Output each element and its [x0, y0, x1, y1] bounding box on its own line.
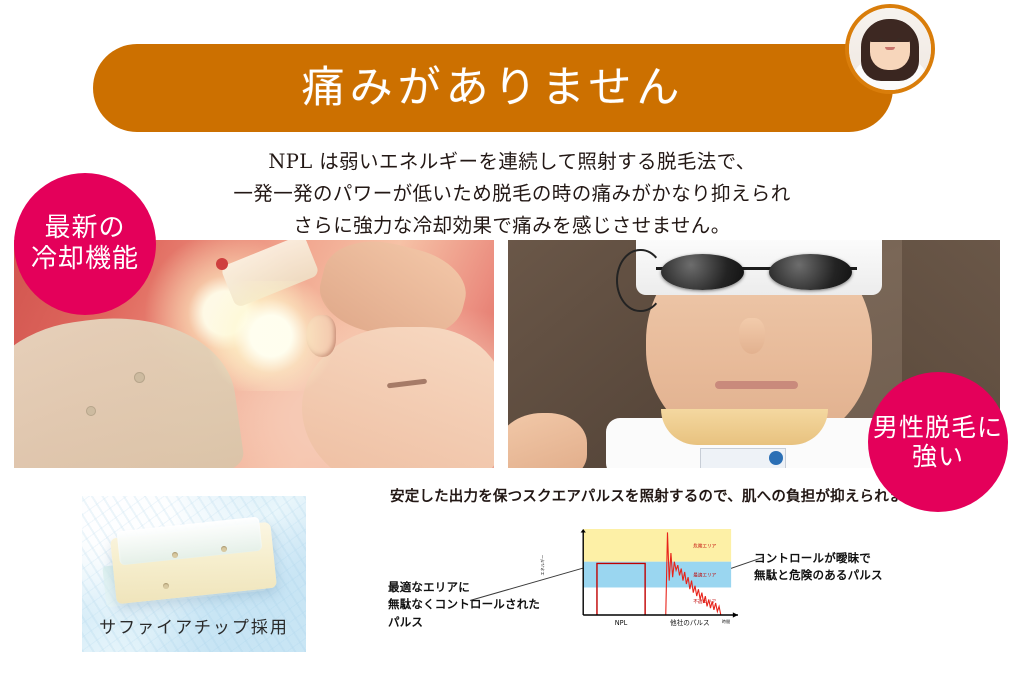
photo-right-nose	[739, 318, 765, 354]
badge-cooling-line-2: 冷却機能	[31, 244, 139, 275]
avatar-hair-front	[867, 20, 913, 42]
annotation-left-line-2: 無駄なくコントロールされた	[388, 597, 540, 614]
chart-caption: 安定した出力を保つスクエアパルスを照射するので、肌への負担が抑えられます。	[390, 485, 932, 506]
lead-line-2: 一発一発のパワーが低いため脱毛の時の痛みがかなり抑えられ	[0, 178, 1024, 210]
badge-male-line-2: 強い	[912, 442, 964, 472]
chart-y-axis-label: エネルギー	[540, 555, 546, 576]
photo-right-staff-hand	[508, 413, 587, 468]
badge-cooling: 最新の 冷却機能	[14, 173, 156, 315]
header-banner: 痛みがありません	[93, 44, 893, 132]
badge-male-hair-removal: 男性脱毛に 強い	[868, 372, 1008, 512]
annotation-right-line-2: 無駄と危険のあるパルス	[754, 568, 883, 585]
lead-line-1: NPL は弱いエネルギーを連続して照射する脱毛法で、	[0, 146, 1024, 178]
chip-hole-1	[172, 552, 178, 558]
photo-right-logo-mark	[769, 451, 783, 465]
photo-left-light-flare	[196, 281, 346, 391]
chart-svg: 危険エリア最適エリア不適エリアエネルギー時間NPL他社のパルス	[536, 525, 746, 637]
chart-band-label: 危険エリア	[693, 542, 716, 549]
sapphire-chip-photo: サファイアチップ採用	[82, 496, 306, 652]
annotation-other-pulse: コントロールが曖昧で 無駄と危険のあるパルス	[754, 551, 883, 586]
chart-category-label: NPL	[615, 619, 628, 627]
photo-right-label-tag	[700, 448, 786, 468]
pulse-comparison-chart: 危険エリア最適エリア不適エリアエネルギー時間NPL他社のパルス	[536, 525, 746, 637]
photo-right-mouth	[715, 381, 799, 389]
chart-band-label: 最適エリア	[693, 572, 716, 579]
infographic-stage: 痛みがありません NPL は弱いエネルギーを連続して照射する脱毛法で、 一発一発…	[0, 0, 1024, 675]
avatar-eye-left	[879, 38, 883, 41]
annotation-right-line-1: コントロールが曖昧で	[754, 551, 883, 568]
chip-hole-3	[163, 583, 169, 589]
photo-right-cord	[616, 249, 664, 312]
chip-caption: サファイアチップ採用	[82, 613, 306, 638]
badge-male-line-1: 男性脱毛に	[873, 413, 1003, 443]
annotation-optimal-pulse: 最適なエリアに 無駄なくコントロールされた パルス	[388, 580, 540, 632]
photo-right-goggle-right	[769, 254, 853, 290]
avatar-mouth	[885, 47, 895, 50]
chart-x-axis-label: 時間	[722, 619, 730, 625]
badge-cooling-line-1: 最新の	[44, 213, 125, 244]
photo-right-goggle-left	[661, 254, 745, 290]
annotation-left-line-3: パルス	[388, 615, 540, 632]
chart-category-label: 他社のパルス	[670, 618, 710, 627]
annotation-left-line-1: 最適なエリアに	[388, 580, 540, 597]
chip-hole-2	[221, 546, 227, 552]
page-title: 痛みがありません	[302, 67, 685, 110]
photo-left-indicator-dot	[216, 258, 228, 270]
photo-right-chin-pad	[661, 409, 828, 445]
doctor-avatar	[845, 4, 935, 94]
